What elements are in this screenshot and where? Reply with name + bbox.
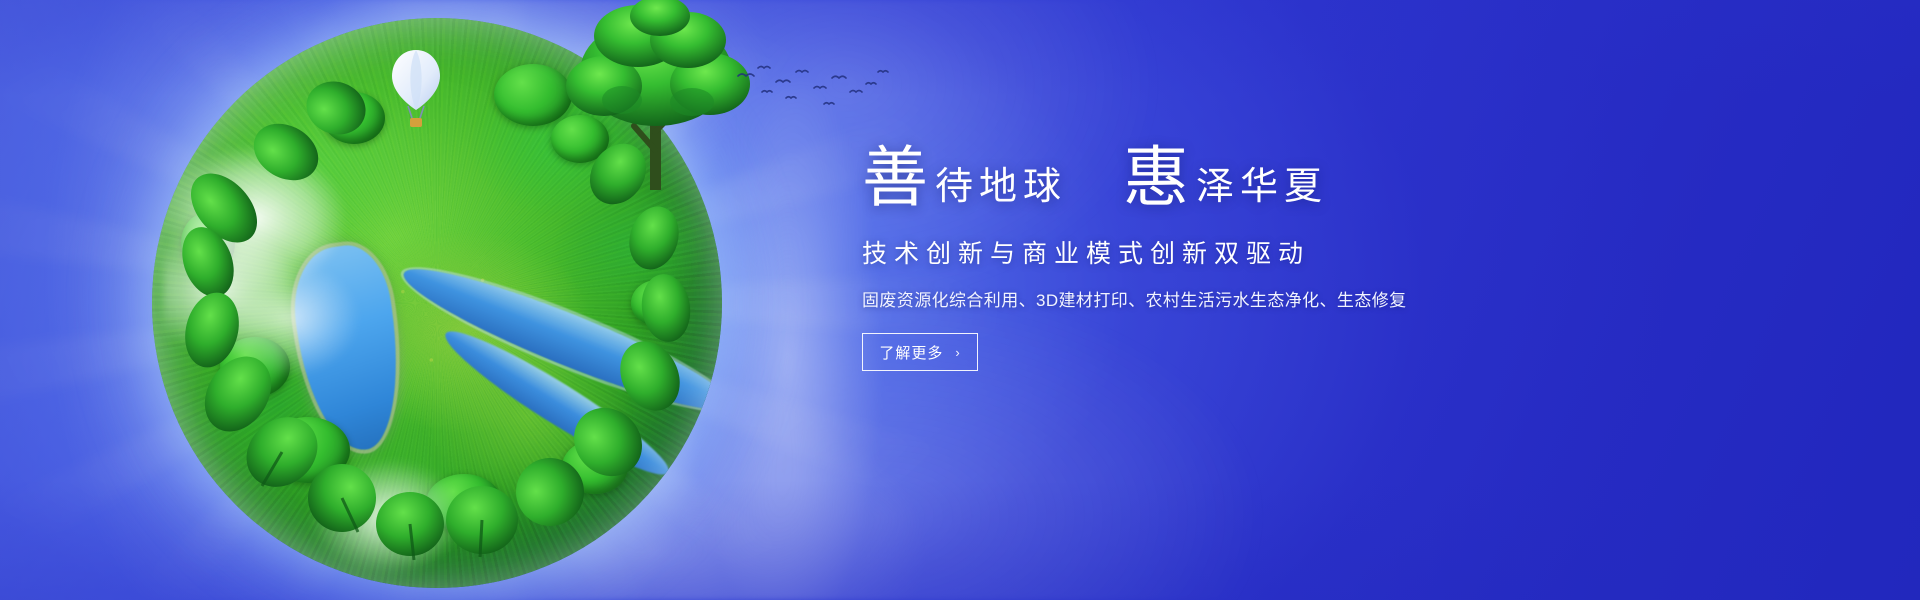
- bush-clump: [631, 280, 683, 326]
- learn-more-button[interactable]: 了解更多 ›: [862, 333, 978, 371]
- headline-rest-1: 待地球: [935, 168, 1067, 212]
- bush-clump: [323, 92, 385, 144]
- chevron-right-icon: ›: [955, 345, 960, 360]
- planet-mist: [163, 143, 391, 394]
- bird-flock-icon: [732, 58, 892, 118]
- hero-content: 善 待地球 惠 泽华夏 技术创新与商业模式创新双驱动 固废资源化综合利用、3D建…: [862, 128, 1562, 371]
- headline-char-1: 善: [862, 147, 929, 212]
- hot-air-balloon-icon: [390, 48, 442, 134]
- hero-subtitle: 技术创新与商业模式创新双驱动: [862, 234, 1562, 270]
- page-title: 善 待地球 惠 泽华夏: [862, 128, 1562, 212]
- headline-rest-2: 泽华夏: [1196, 168, 1328, 212]
- bush-clump: [562, 440, 628, 494]
- tiny-planet-earth: [152, 18, 722, 588]
- learn-more-label: 了解更多: [879, 342, 943, 363]
- hero-description: 固废资源化综合利用、3D建材打印、农村生活污水生态净化、生态修复: [862, 286, 1562, 311]
- headline-char-2: 惠: [1123, 147, 1190, 212]
- planet-mist-lower: [289, 428, 483, 576]
- hero-banner: 善 待地球 惠 泽华夏 技术创新与商业模式创新双驱动 固废资源化综合利用、3D建…: [0, 0, 1920, 600]
